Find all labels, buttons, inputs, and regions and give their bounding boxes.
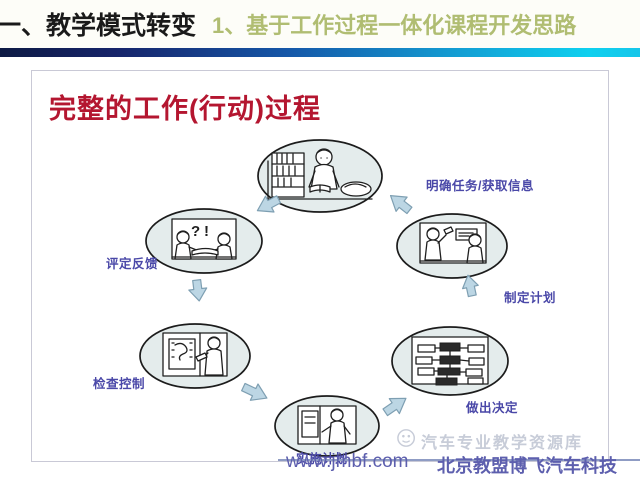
cycle-label-feedback: 评定反馈 <box>106 253 158 272</box>
svg-text:?: ? <box>191 223 200 240</box>
cycle-node-decide <box>392 327 508 395</box>
cycle-label-check: 检查控制 <box>93 373 145 392</box>
slide-root: 一、教学模式转变 1、基于工作过程一体化课程开发思路 完整的工作(行动)过程 .… <box>0 0 640 478</box>
cycle-node-plan <box>397 214 507 278</box>
watermark-top-text: 汽车专业教学资源库 <box>421 429 583 453</box>
watermark-company-text: 北京教盟博飞汽车科技 <box>437 452 617 478</box>
work-process-cycle-diagram: .ell{ fill:#e4ecec; stroke:#1c1c1c; stro… <box>32 71 610 463</box>
cycle-node-feedback: ? ! <box>146 209 262 273</box>
page-title: 一、教学模式转变 <box>0 6 196 42</box>
slide-header: 一、教学模式转变 1、基于工作过程一体化课程开发思路 <box>0 0 640 48</box>
cycle-node-check <box>140 324 250 388</box>
cycle-label-decide: 做出决定 <box>466 397 518 416</box>
cycle-label-task: 明确任务/获取信息 <box>426 175 534 194</box>
cycle-label-plan: 制定计划 <box>504 287 556 306</box>
page-subtitle: 1、基于工作过程一体化课程开发思路 <box>212 8 576 40</box>
content-panel: 完整的工作(行动)过程 .ell{ fill:#e4ecec; stroke:#… <box>31 70 609 462</box>
watermark-domain-text: www.jmbf.com <box>286 451 408 473</box>
watermark-logo-icon <box>396 428 418 448</box>
svg-text:!: ! <box>204 223 209 240</box>
header-divider-underline <box>0 57 640 59</box>
header-gradient-divider <box>0 48 640 57</box>
cycle-node-implement <box>275 396 379 456</box>
cycle-arrow-5 <box>240 379 271 406</box>
cycle-arrow-2 <box>385 189 415 218</box>
cycle-arrow-4 <box>380 391 411 420</box>
cycle-arrow-6 <box>188 279 208 302</box>
